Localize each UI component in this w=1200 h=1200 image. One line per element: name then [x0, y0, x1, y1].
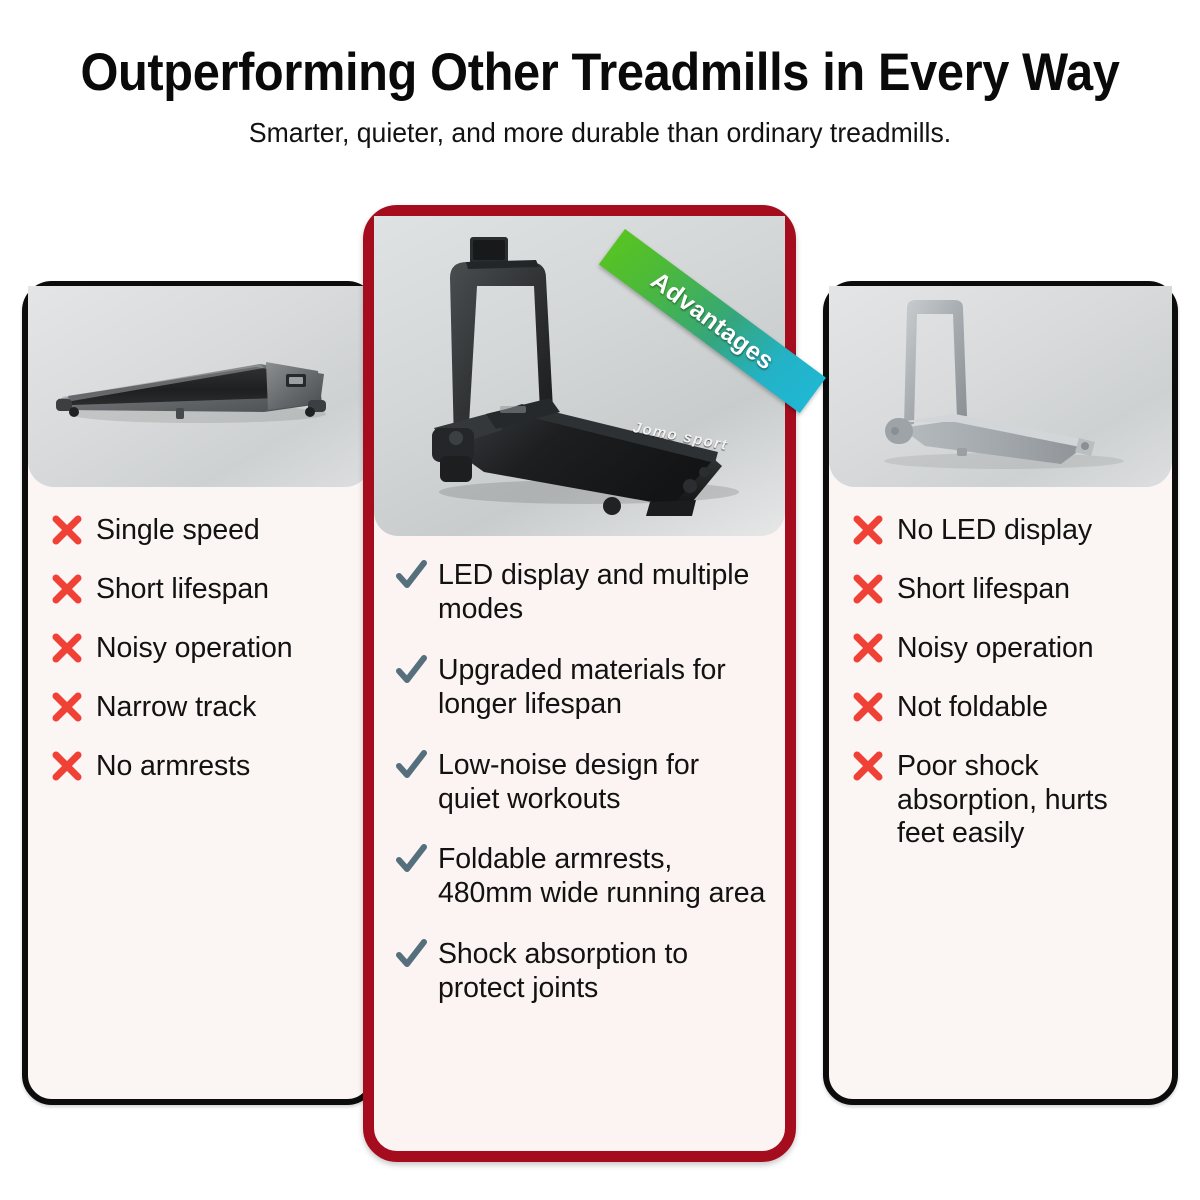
list-item-label: Short lifespan — [96, 572, 269, 607]
check-icon — [394, 558, 434, 592]
list-item: Not foldable — [851, 690, 1158, 725]
product-image-center: Jomo sport — [374, 216, 785, 536]
list-item: LED display and multiple modes — [394, 558, 767, 627]
treadmill-flat-icon — [28, 286, 371, 487]
check-icon — [394, 653, 434, 687]
feature-list-right: No LED display Short lifespan Noisy oper… — [829, 487, 1172, 851]
list-item-label: Upgraded materials for longer lifespan — [438, 653, 767, 722]
page-subtitle: Smarter, quieter, and more durable than … — [30, 117, 1170, 149]
list-item: Low-noise design for quiet workouts — [394, 748, 767, 817]
product-image-right — [829, 286, 1172, 487]
list-item-label: Single speed — [96, 513, 260, 548]
comparison-card-left: Single speed Short lifespan Noisy operat… — [22, 281, 377, 1105]
feature-list-left: Single speed Short lifespan Noisy operat… — [28, 487, 371, 784]
list-item: Single speed — [50, 513, 357, 548]
comparison-card-center: Advantages — [363, 205, 796, 1162]
product-image-left — [28, 286, 371, 487]
list-item: Foldable armrests, 480mm wide running ar… — [394, 842, 767, 911]
list-item-label: Not foldable — [897, 690, 1048, 725]
page-title: Outperforming Other Treadmills in Every … — [48, 45, 1152, 101]
check-icon — [394, 937, 434, 971]
list-item: Poor shock absorption, hurts feet easily — [851, 749, 1158, 852]
list-item-label: LED display and multiple modes — [438, 558, 767, 627]
list-item: No LED display — [851, 513, 1158, 548]
cross-icon — [851, 572, 891, 606]
comparison-card-right: No LED display Short lifespan Noisy oper… — [823, 281, 1178, 1105]
list-item-label: No armrests — [96, 749, 250, 784]
list-item: Noisy operation — [851, 631, 1158, 666]
list-item-label: Narrow track — [96, 690, 256, 725]
list-item: Short lifespan — [851, 572, 1158, 607]
header: Outperforming Other Treadmills in Every … — [0, 0, 1200, 149]
list-item-label: Poor shock absorption, hurts feet easily — [897, 749, 1158, 852]
list-item: Short lifespan — [50, 572, 357, 607]
list-item: Upgraded materials for longer lifespan — [394, 653, 767, 722]
cross-icon — [851, 631, 891, 665]
check-icon — [394, 842, 434, 876]
treadmill-upright-icon — [829, 286, 1172, 487]
cross-icon — [50, 749, 90, 783]
cross-icon — [50, 690, 90, 724]
check-icon — [394, 748, 434, 782]
list-item: Narrow track — [50, 690, 357, 725]
treadmill-featured-icon — [374, 216, 785, 536]
cross-icon — [50, 513, 90, 547]
list-item: No armrests — [50, 749, 357, 784]
list-item-label: Foldable armrests, 480mm wide running ar… — [438, 842, 767, 911]
list-item-label: No LED display — [897, 513, 1092, 548]
list-item-label: Noisy operation — [897, 631, 1094, 666]
cross-icon — [851, 513, 891, 547]
feature-list-center: LED display and multiple modes Upgraded … — [374, 536, 785, 1006]
cross-icon — [50, 572, 90, 606]
comparison-infographic: Outperforming Other Treadmills in Every … — [0, 0, 1200, 1200]
list-item-label: Low-noise design for quiet workouts — [438, 748, 767, 817]
cross-icon — [851, 690, 891, 724]
list-item-label: Noisy operation — [96, 631, 293, 666]
list-item-label: Short lifespan — [897, 572, 1070, 607]
list-item: Shock absorption to protect joints — [394, 937, 767, 1006]
list-item-label: Shock absorption to protect joints — [438, 937, 767, 1006]
list-item: Noisy operation — [50, 631, 357, 666]
cross-icon — [50, 631, 90, 665]
cross-icon — [851, 749, 891, 783]
